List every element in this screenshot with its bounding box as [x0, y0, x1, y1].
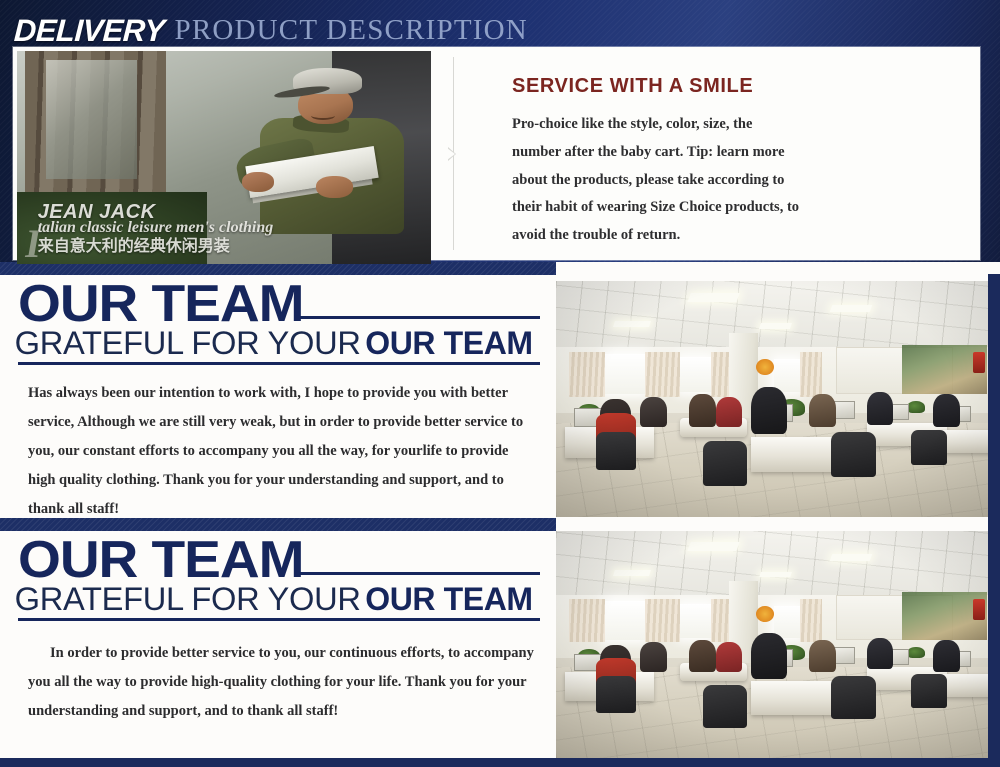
office-scene — [556, 531, 1000, 758]
photo-courier — [191, 64, 423, 264]
team-body-2: In order to provide better service to yo… — [0, 621, 556, 726]
team-body-1: Has always been our intention to work wi… — [0, 365, 556, 524]
courier-hand-right — [316, 176, 353, 198]
delivery-panel: DELIVERY PRODUCT DESCRIPTION — [0, 0, 1000, 274]
bottom-border-bar — [0, 758, 1000, 767]
team-heading-2: OUR TEAM GRATEFUL FOR YOUR OUR TEAM — [0, 531, 556, 621]
photo-hedge — [17, 192, 207, 264]
team-text-1: OUR TEAM GRATEFUL FOR YOUR OUR TEAM Has … — [0, 275, 556, 524]
team-heading-row-main: OUR TEAM — [18, 537, 540, 585]
panel-header: DELIVERY PRODUCT DESCRIPTION — [0, 0, 1000, 46]
service-body: Pro-choice like the style, color, size, … — [512, 111, 802, 250]
right-edge-border — [988, 274, 1000, 767]
team-heading-1: OUR TEAM GRATEFUL FOR YOUR OUR TEAM — [0, 275, 556, 365]
heading-rule — [297, 572, 540, 575]
photo-door-glass — [46, 60, 137, 179]
chevron-right-icon — [448, 147, 456, 161]
team-heading-sub-bold: OUR TEAM — [365, 327, 532, 359]
team-heading-sub-light: GRATEFUL FOR YOUR — [15, 327, 361, 359]
product-description-title: PRODUCT DESCRIPTION — [174, 16, 527, 45]
office-photo-1 — [556, 281, 1000, 517]
courier-hand-left — [242, 172, 274, 192]
section-divider-bar — [0, 518, 556, 531]
office-scene — [556, 281, 1000, 517]
delivery-photo: I JEAN JACK talian classic leisure men's… — [17, 51, 431, 264]
delivery-card: I JEAN JACK talian classic leisure men's… — [13, 47, 980, 260]
watermark-initial: I — [25, 228, 41, 260]
team-heading-row-sub: GRATEFUL FOR YOUR OUR TEAM — [18, 583, 540, 621]
photo-vignette — [556, 531, 1000, 758]
team-heading-main: OUR TEAM — [18, 537, 303, 585]
photo-vignette — [556, 281, 1000, 517]
team-section-1: OUR TEAM GRATEFUL FOR YOUR OUR TEAM Has … — [0, 262, 1000, 530]
heading-rule — [297, 316, 540, 319]
team-heading-row-sub: GRATEFUL FOR YOUR OUR TEAM — [18, 327, 540, 365]
team-heading-row-main: OUR TEAM — [18, 281, 540, 329]
team-heading-sub-bold: OUR TEAM — [365, 583, 532, 615]
product-description-page: DELIVERY PRODUCT DESCRIPTION — [0, 0, 1000, 767]
office-photo-2 — [556, 531, 1000, 758]
card-divider — [453, 57, 454, 250]
service-text-block: SERVICE WITH A SMILE Pro-choice like the… — [454, 47, 980, 260]
team-text-2: OUR TEAM GRATEFUL FOR YOUR OUR TEAM In o… — [0, 531, 556, 726]
delivery-title: DELIVERY — [13, 15, 165, 46]
team-section-2: OUR TEAM GRATEFUL FOR YOUR OUR TEAM In o… — [0, 531, 1000, 767]
service-title: SERVICE WITH A SMILE — [512, 75, 960, 98]
team-heading-sub-light: GRATEFUL FOR YOUR — [15, 583, 361, 615]
team-heading-main: OUR TEAM — [18, 281, 303, 329]
